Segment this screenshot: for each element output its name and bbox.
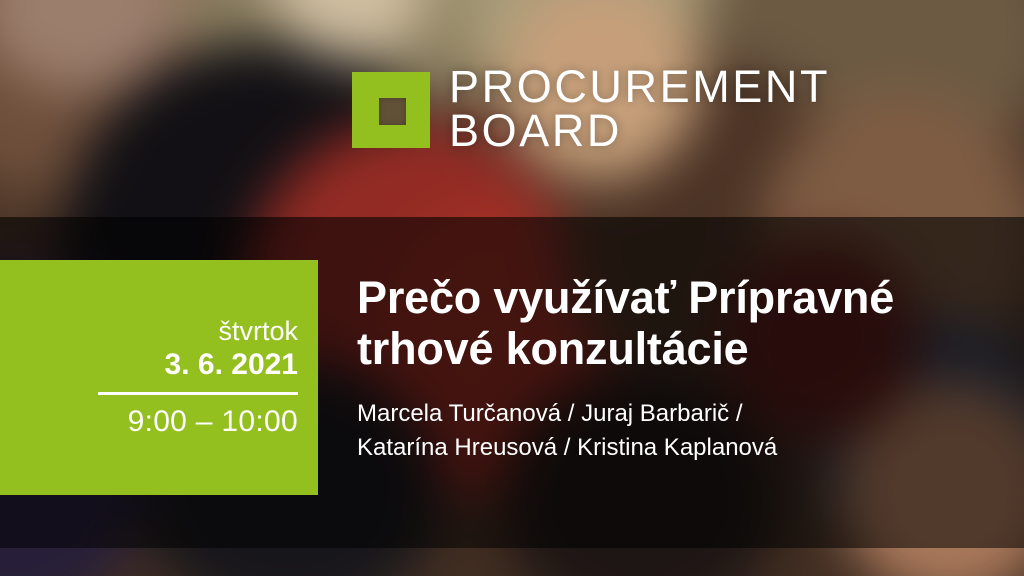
logo-inner-cutout-square [379, 98, 406, 125]
event-title-line-2: trhové konzultácie [357, 323, 1005, 374]
logo-wordmark-line-1: PROCUREMENT [449, 65, 830, 109]
logo-wordmark-line-2: BOARD [449, 109, 830, 153]
date-label: 3. 6. 2021 [165, 347, 298, 383]
event-banner: PROCUREMENT BOARD štvrtok 3. 6. 2021 9:0… [0, 0, 1024, 576]
logo-square-icon [352, 72, 430, 148]
event-details: Prečo využívať Prípravné trhové konzultá… [357, 272, 1005, 465]
logo-wordmark: PROCUREMENT BOARD [449, 65, 830, 153]
time-label: 9:00 – 10:00 [128, 404, 298, 440]
procurement-board-logo: PROCUREMENT BOARD [352, 72, 830, 153]
date-divider [98, 392, 298, 395]
weekday-label: štvrtok [218, 315, 298, 348]
event-speakers-line-2: Katarína Hreusová / Kristina Kaplanová [357, 431, 1005, 465]
date-time-card: štvrtok 3. 6. 2021 9:00 – 10:00 [0, 260, 318, 495]
event-title-line-1: Prečo využívať Prípravné [357, 272, 1005, 323]
event-speakers-line-1: Marcela Turčanová / Juraj Barbarič / [357, 397, 1005, 431]
bottom-overlay-strip [0, 548, 1024, 576]
event-speakers: Marcela Turčanová / Juraj Barbarič / Kat… [357, 397, 1005, 465]
event-title: Prečo využívať Prípravné trhové konzultá… [357, 272, 1005, 375]
